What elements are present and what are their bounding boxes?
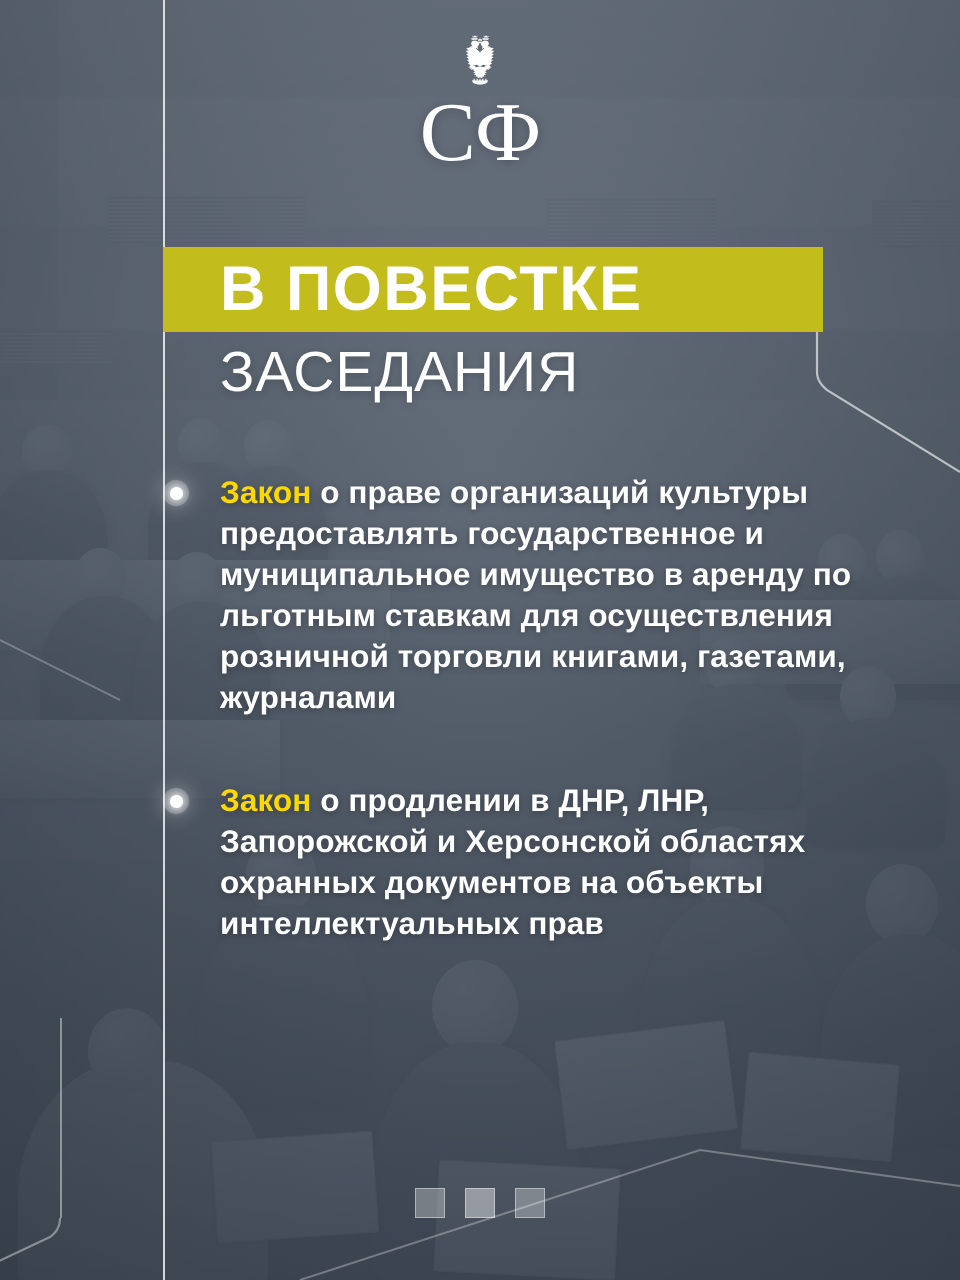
page-indicator[interactable] — [0, 1188, 960, 1218]
glow-dot-icon — [163, 480, 189, 506]
subheading: ЗАСЕДАНИЯ — [220, 344, 579, 401]
page-indicator-dot-3[interactable] — [515, 1188, 545, 1218]
logo: СФ — [0, 34, 960, 171]
poster: СФ В ПОВЕСТКЕ ЗАСЕДАНИЯ Закон о праве ор… — [0, 0, 960, 1280]
list-item: Закон о продлении в ДНР, ЛНР, Запорожско… — [220, 780, 920, 944]
double-headed-eagle-emblem-icon — [450, 34, 510, 92]
agenda-list: Закон о праве организаций культуры предо… — [220, 472, 920, 944]
list-item: Закон о праве организаций культуры предо… — [220, 472, 920, 718]
logo-mark: СФ — [0, 94, 960, 171]
banner-strip: В ПОВЕСТКЕ — [163, 247, 823, 332]
banner-title: В ПОВЕСТКЕ — [163, 258, 643, 321]
page-indicator-dot-2[interactable] — [465, 1188, 495, 1218]
page-indicator-dot-1[interactable] — [415, 1188, 445, 1218]
item-text: о праве организаций культуры предоставля… — [220, 474, 851, 715]
item-keyword: Закон — [220, 782, 311, 818]
item-keyword: Закон — [220, 474, 311, 510]
glow-dot-icon — [163, 788, 189, 814]
